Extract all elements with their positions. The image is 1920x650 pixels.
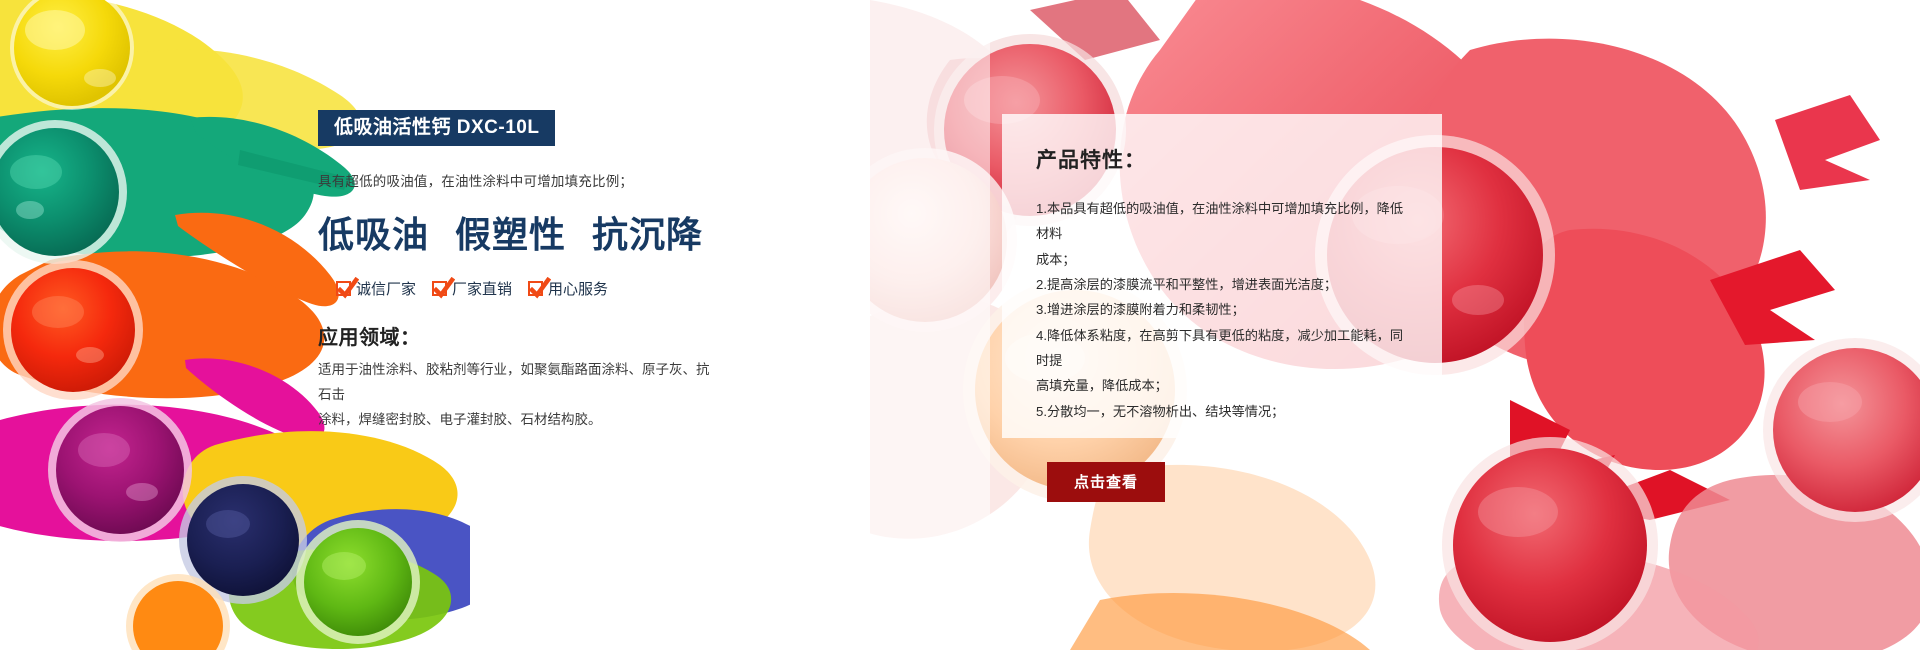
- headline-word-3: 抗沉降: [592, 215, 703, 255]
- trust-badge-label: 厂家直销: [452, 278, 512, 299]
- feature-line: 2.提高涂层的漆膜流平和平整性，增进表面光洁度；: [1036, 272, 1408, 297]
- checkmark-icon: [528, 281, 543, 296]
- feature-line: 成本；: [1036, 247, 1408, 272]
- trust-badge-label: 用心服务: [548, 278, 608, 299]
- application-line-2: 涂料，焊缝密封胶、电子灌封胶、石材结构胶。: [318, 408, 718, 433]
- application-line-1: 适用于油性涂料、胶粘剂等行业，如聚氨酯路面涂料、原子灰、抗石击: [318, 358, 718, 408]
- product-headline: 低吸油假塑性抗沉降: [318, 206, 738, 258]
- product-tagline: 具有超低的吸油值，在油性涂料中可增加填充比例；: [318, 170, 738, 190]
- trust-badges-row: 诚信厂家 厂家直销 用心服务: [336, 278, 738, 299]
- view-details-button[interactable]: 点击查看: [1047, 462, 1165, 502]
- feature-line: 高填充量，降低成本；: [1036, 373, 1408, 398]
- feature-line: 3.增进涂层的漆膜附着力和柔韧性；: [1036, 297, 1408, 322]
- trust-badge-1: 诚信厂家: [336, 278, 416, 299]
- promo-banner: 低吸油活性钙 DXC-10L 具有超低的吸油值，在油性涂料中可增加填充比例； 低…: [0, 0, 1920, 650]
- product-features-panel: 产品特性： 1.本品具有超低的吸油值，在油性涂料中可增加填充比例，降低材料 成本…: [1002, 114, 1442, 438]
- headline-word-2: 假塑性: [455, 215, 566, 255]
- features-list: 1.本品具有超低的吸油值，在油性涂料中可增加填充比例，降低材料 成本； 2.提高…: [1036, 196, 1408, 424]
- trust-badge-label: 诚信厂家: [356, 278, 416, 299]
- feature-line: 1.本品具有超低的吸油值，在油性涂料中可增加填充比例，降低材料: [1036, 196, 1408, 247]
- feature-line: 5.分散均一，无不溶物析出、结块等情况；: [1036, 399, 1408, 424]
- left-text-column: 低吸油活性钙 DXC-10L 具有超低的吸油值，在油性涂料中可增加填充比例； 低…: [318, 110, 738, 433]
- trust-badge-2: 厂家直销: [432, 278, 512, 299]
- checkmark-icon: [432, 281, 447, 296]
- headline-word-1: 低吸油: [318, 215, 429, 255]
- trust-badge-3: 用心服务: [528, 278, 608, 299]
- product-title-badge: 低吸油活性钙 DXC-10L: [318, 110, 555, 146]
- application-description: 适用于油性涂料、胶粘剂等行业，如聚氨酯路面涂料、原子灰、抗石击 涂料，焊缝密封胶…: [318, 358, 718, 433]
- checkmark-icon: [336, 281, 351, 296]
- features-panel-title: 产品特性：: [1036, 144, 1408, 174]
- feature-line: 4.降低体系粘度，在高剪下具有更低的粘度，减少加工能耗，同时提: [1036, 323, 1408, 374]
- application-heading: 应用领域：: [318, 321, 738, 350]
